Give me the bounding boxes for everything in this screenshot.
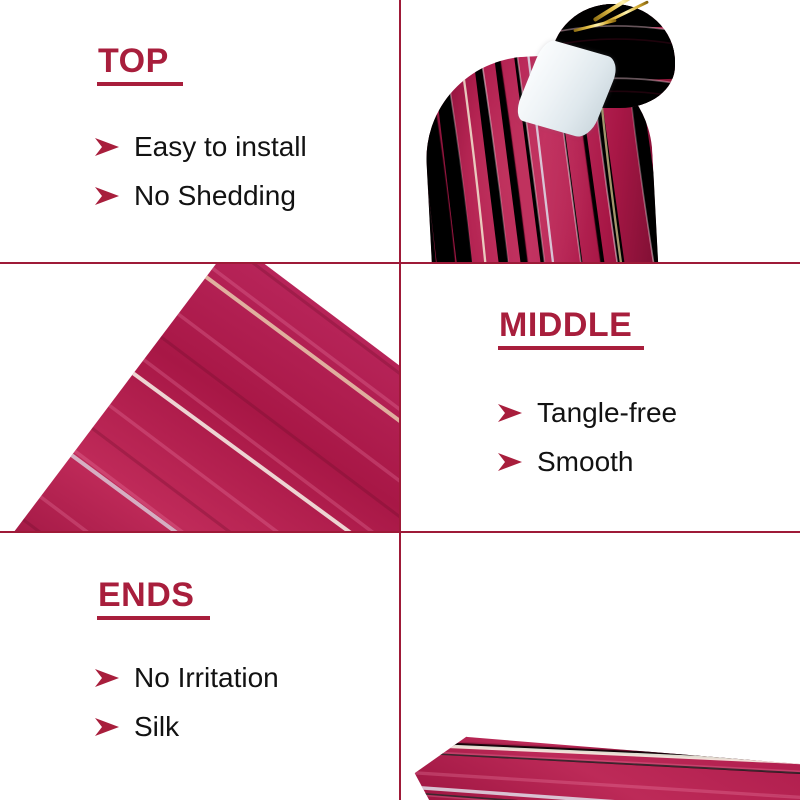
feature-list-ends: No Irritation Silk [94, 663, 279, 761]
section-heading-ends: ENDS [98, 578, 194, 612]
hair-tapered-ends [401, 533, 800, 800]
feature-label: Smooth [537, 447, 634, 478]
list-item: Silk [94, 712, 279, 743]
hair-body [0, 264, 399, 531]
panel-top-text: TOP Easy to install No Shedding [0, 0, 399, 262]
feature-label: Tangle-free [537, 398, 677, 429]
list-item: Smooth [497, 447, 677, 478]
heading-underline-top [97, 82, 183, 86]
hair-fibre-texture [401, 533, 800, 800]
hair-bundle-top-with-white-band [401, 0, 800, 262]
hair-midsection-diagonal [0, 264, 399, 531]
arrow-right-icon [94, 185, 120, 207]
section-heading-top: TOP [98, 44, 169, 78]
list-item: Easy to install [94, 132, 307, 163]
feature-list-middle: Tangle-free Smooth [497, 398, 677, 496]
text-panel-middle: MIDDLE Tangle-free Smooth [401, 264, 800, 531]
heading-underline-middle [498, 346, 644, 350]
arrow-right-icon [94, 716, 120, 738]
heading-underline-ends [97, 616, 210, 620]
feature-label: No Irritation [134, 663, 279, 694]
list-item: No Shedding [94, 181, 307, 212]
feature-label: Silk [134, 712, 179, 743]
text-panel-top: TOP Easy to install No Shedding [0, 0, 399, 262]
hair-fibre-texture [0, 264, 399, 531]
list-item: No Irritation [94, 663, 279, 694]
section-heading-middle: MIDDLE [499, 308, 632, 342]
hair-body [401, 533, 800, 800]
product-feature-infographic: TOP Easy to install No Shedding [0, 0, 800, 800]
arrow-right-icon [94, 667, 120, 689]
tinsel-strands [0, 264, 399, 531]
feature-list-top: Easy to install No Shedding [94, 132, 307, 230]
tinsel-strands [401, 533, 800, 800]
grid-divider-vertical [399, 0, 401, 800]
panel-ends-photo [401, 533, 800, 800]
arrow-right-icon [497, 402, 523, 424]
list-item: Tangle-free [497, 398, 677, 429]
panel-ends-text: ENDS No Irritation Silk [0, 533, 399, 800]
text-panel-ends: ENDS No Irritation Silk [0, 533, 399, 800]
panel-middle-text: MIDDLE Tangle-free Smooth [401, 264, 800, 531]
arrow-right-icon [497, 451, 523, 473]
panel-middle-photo [0, 264, 399, 531]
feature-label: Easy to install [134, 132, 307, 163]
arrow-right-icon [94, 136, 120, 158]
panel-top-photo [401, 0, 800, 262]
feature-label: No Shedding [134, 181, 296, 212]
